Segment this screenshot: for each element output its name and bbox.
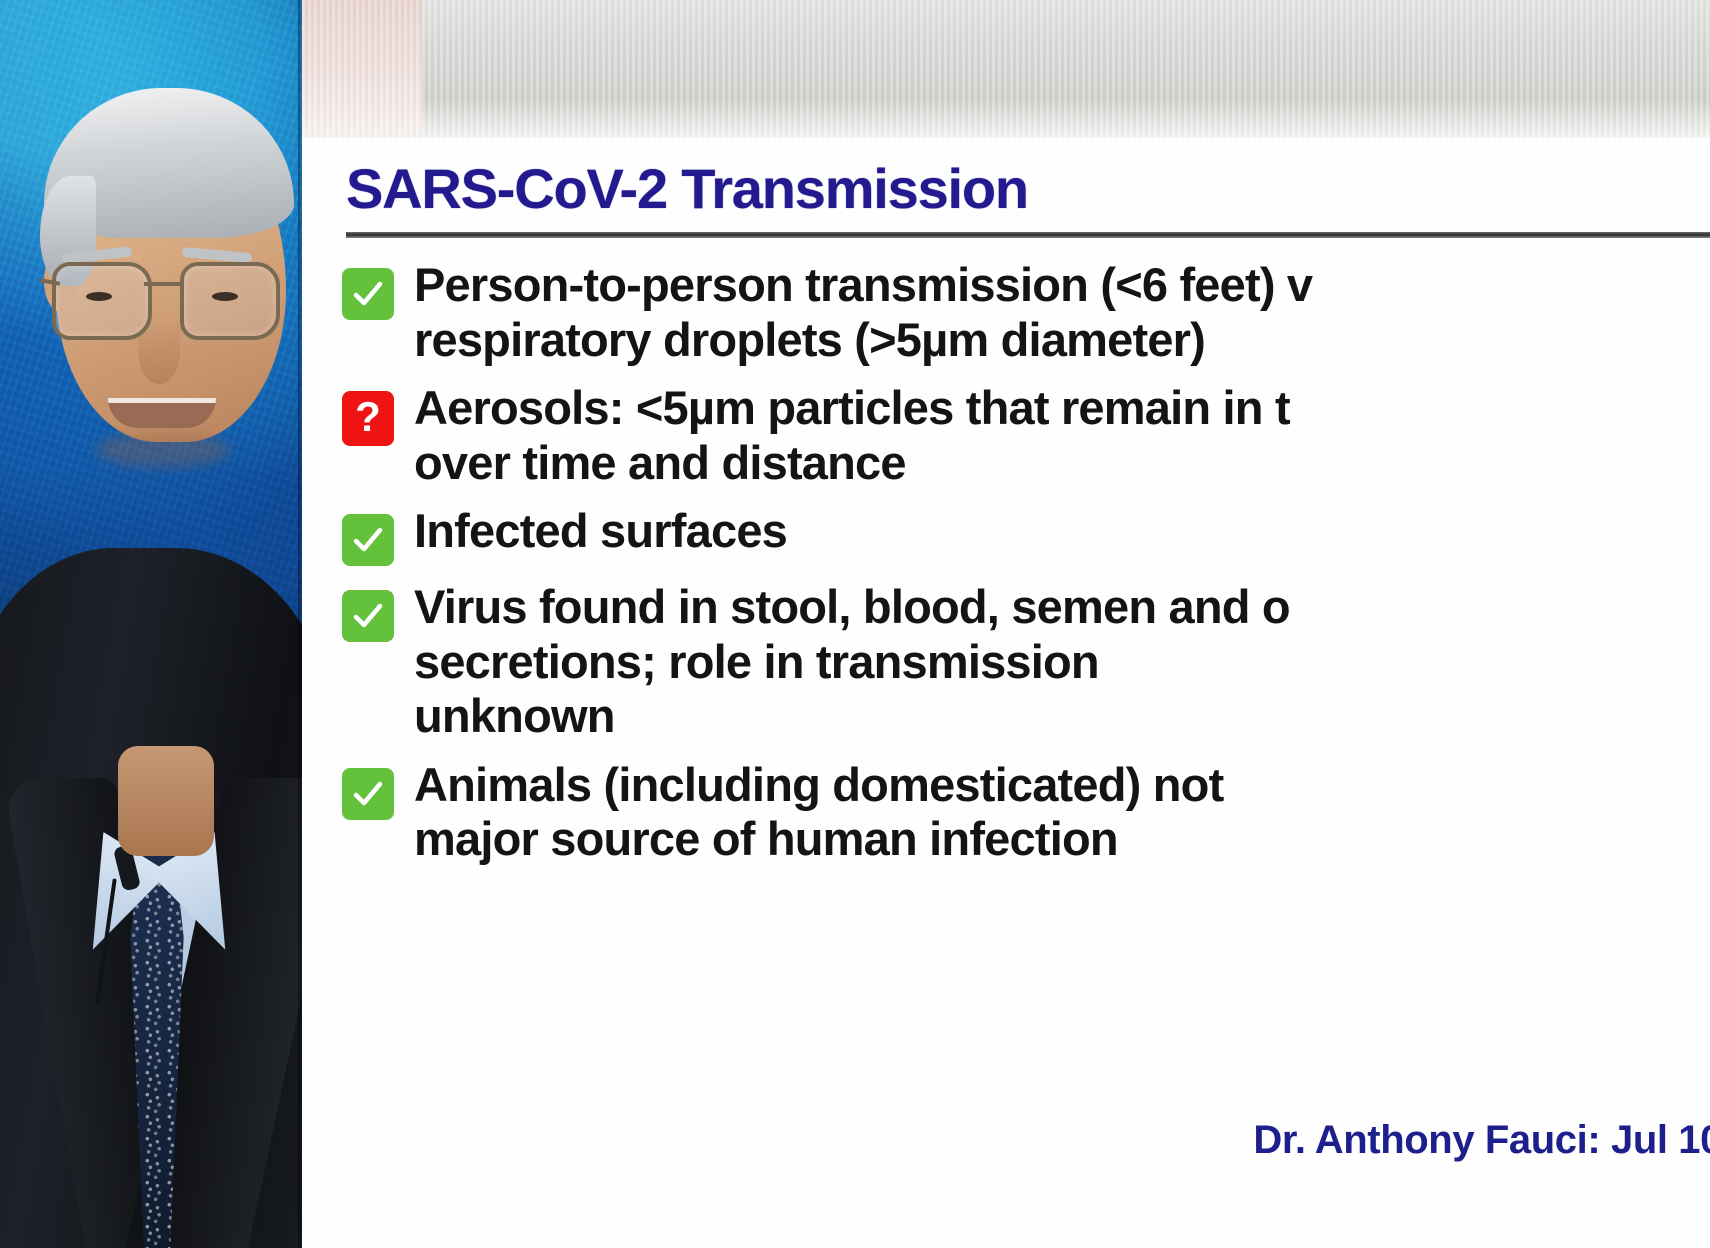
bullet-line-1: Virus found in stool, blood, semen and o (414, 580, 1290, 633)
bullet-text: Aerosols: <5µm particles that remain in … (414, 381, 1710, 490)
eye-left (86, 292, 112, 301)
bullet-line-2: respiratory droplets (>5µm diameter) (414, 313, 1710, 368)
title-underline (346, 232, 1710, 238)
check-icon (342, 268, 394, 320)
broadcast-frame: SARS-CoV-2 Transmission Person-to-person… (0, 0, 1710, 1248)
mouth (108, 398, 216, 428)
neck (118, 746, 214, 856)
speaker-video-panel (0, 0, 302, 1248)
check-icon (342, 590, 394, 642)
bullet-text: Animals (including domesticated) not maj… (414, 758, 1710, 867)
bullet-line-2: major source of human infection (414, 812, 1710, 867)
lens-right (180, 262, 280, 340)
bullet-line-3: unknown (414, 689, 1710, 744)
bullet-text: Virus found in stool, blood, semen and o… (414, 580, 1710, 744)
bullet-text: Person-to-person transmission (<6 feet) … (414, 258, 1710, 367)
bullet-item: Animals (including domesticated) not maj… (342, 758, 1710, 867)
glasses-bridge (144, 282, 180, 286)
bullet-line-1: Person-to-person transmission (<6 feet) … (414, 258, 1312, 311)
bullet-line-1: Infected surfaces (414, 504, 787, 557)
check-icon (342, 768, 394, 820)
bullet-line-1: Animals (including domesticated) not (414, 758, 1223, 811)
chin-shadow (96, 432, 230, 468)
lens-left (52, 262, 152, 340)
bullet-item: Infected surfaces (342, 504, 1710, 566)
slide-top-border-accent (302, 0, 422, 138)
slide-content: SARS-CoV-2 Transmission Person-to-person… (302, 138, 1710, 1248)
bullet-line-2: over time and distance (414, 436, 1710, 491)
bullet-text: Infected surfaces (414, 504, 1710, 559)
bullet-list: Person-to-person transmission (<6 feet) … (342, 258, 1710, 881)
question-icon: ? (342, 391, 394, 446)
presentation-slide: SARS-CoV-2 Transmission Person-to-person… (302, 0, 1710, 1248)
bullet-item: Person-to-person transmission (<6 feet) … (342, 258, 1710, 367)
slide-attribution: Dr. Anthony Fauci: Jul 10 (342, 1118, 1710, 1163)
bullet-line-2: secretions; role in transmission (414, 635, 1710, 690)
speaker-portrait (0, 0, 302, 1248)
eyeglasses-icon (40, 262, 288, 334)
bullet-line-1: Aerosols: <5µm particles that remain in … (414, 381, 1290, 434)
slide-top-border (302, 0, 1710, 138)
bullet-item: Virus found in stool, blood, semen and o… (342, 580, 1710, 744)
check-icon (342, 514, 394, 566)
eye-right (212, 292, 238, 301)
slide-title: SARS-CoV-2 Transmission (346, 156, 1028, 221)
bullet-item: ? Aerosols: <5µm particles that remain i… (342, 381, 1710, 490)
